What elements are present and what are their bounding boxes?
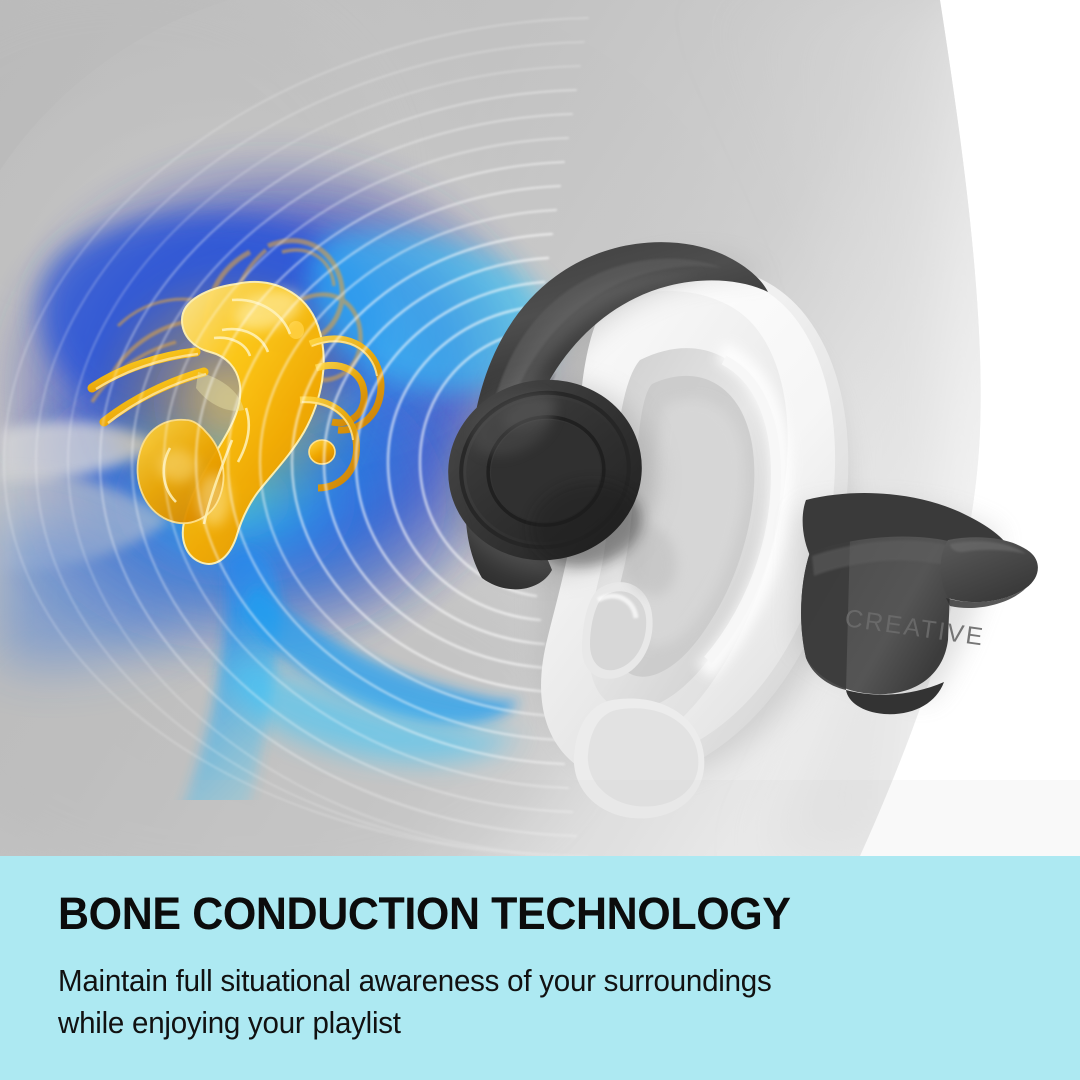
hero-image: CREATIVE	[0, 0, 1080, 856]
caption-bar: BONE CONDUCTION TECHNOLOGY Maintain full…	[0, 856, 1080, 1080]
caption-subtitle-line-1: Maintain full situational awareness of y…	[58, 960, 978, 1002]
hero-illustration: CREATIVE	[0, 0, 1080, 856]
product-feature-card: CREATIVE	[0, 0, 1080, 1080]
caption-subtitle-line-2: while enjoying your playlist	[58, 1002, 978, 1044]
caption-subtitle: Maintain full situational awareness of y…	[58, 960, 978, 1044]
page-title: BONE CONDUCTION TECHNOLOGY	[58, 890, 979, 938]
